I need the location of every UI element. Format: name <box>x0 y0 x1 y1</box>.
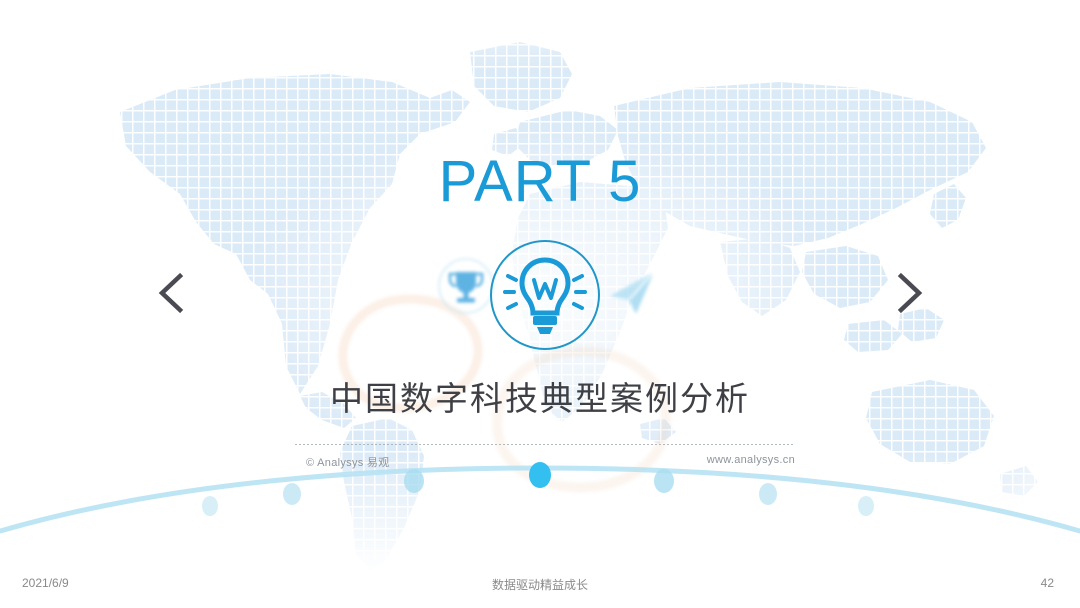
slide-subtitle: 中国数字科技典型案例分析 <box>0 372 1080 420</box>
part-title: PART 5 <box>0 148 1080 215</box>
progress-arc <box>0 462 1080 542</box>
progress-arc-svg <box>0 462 1080 542</box>
lightbulb-icon-circle <box>490 240 600 350</box>
lightbulb-icon <box>492 242 598 348</box>
credit-divider <box>295 444 795 445</box>
paper-plane-icon <box>602 262 662 322</box>
pagination-dot <box>654 469 674 493</box>
pagination-dot <box>404 469 424 493</box>
pagination-dot-active <box>529 462 551 488</box>
next-slide-arrow[interactable] <box>884 270 936 322</box>
footer-page-number: 42 <box>980 576 1054 590</box>
pagination-dot <box>759 483 777 505</box>
prev-slide-arrow[interactable] <box>145 270 197 322</box>
trophy-icon <box>436 256 496 316</box>
footer-tagline: 数据驱动精益成长 <box>0 576 1080 593</box>
pagination-dot <box>858 496 874 516</box>
slide-part-divider: PART 5 <box>0 0 1080 608</box>
pagination-dot <box>283 483 301 505</box>
chevron-right-icon <box>893 270 927 316</box>
icon-cluster <box>420 240 670 352</box>
pagination-dot <box>202 496 218 516</box>
chevron-left-icon <box>154 270 188 316</box>
